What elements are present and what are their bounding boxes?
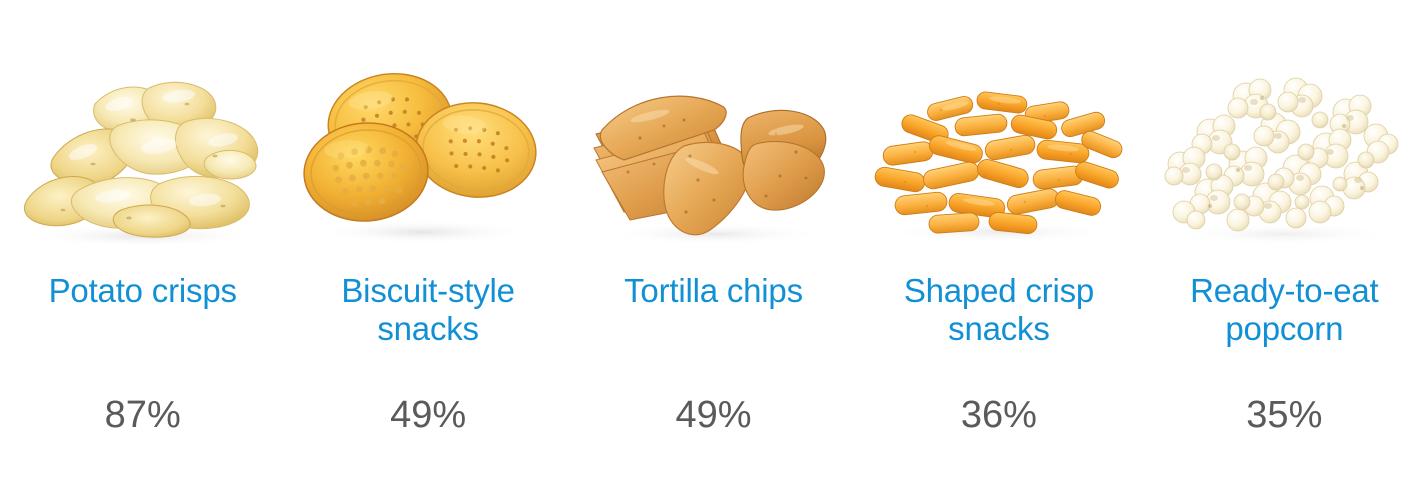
caption-block: Shaped crisp snacks 36% [856,272,1141,484]
biscuit-crackers-photo [294,60,562,250]
category-item-potato-crisps[interactable]: Potato crisps 87% [0,0,285,484]
category-value: 36% [856,394,1141,436]
category-label: Shaped crisp snacks [856,272,1141,348]
caption-block: Potato crisps 87% [0,272,285,484]
category-value: 87% [0,394,285,436]
category-item-shaped-crisp-snacks[interactable]: Shaped crisp snacks 36% [856,0,1141,484]
category-value: 49% [571,394,856,436]
cheese-puffs-photo [865,60,1133,250]
category-item-tortilla-chips[interactable]: Tortilla chips 49% [571,0,856,484]
image-plate [0,0,285,272]
image-plate [1142,0,1427,272]
category-row: Potato crisps 87% [0,0,1427,484]
category-label: Biscuit-style snacks [285,272,570,348]
category-label: Tortilla chips [571,272,856,310]
tortilla-chips-photo [580,60,848,250]
caption-block: Ready-to-eat popcorn 35% [1142,272,1427,484]
category-value: 35% [1142,394,1427,436]
potato-crisps-photo [9,60,277,250]
snack-category-panel: Potato crisps 87% [0,0,1427,484]
caption-block: Biscuit-style snacks 49% [285,272,570,484]
image-plate [856,0,1141,272]
category-item-biscuit-style-snacks[interactable]: Biscuit-style snacks 49% [285,0,570,484]
image-plate [571,0,856,272]
caption-block: Tortilla chips 49% [571,272,856,484]
category-label: Potato crisps [0,272,285,310]
category-value: 49% [285,394,570,436]
image-plate [285,0,570,272]
category-label: Ready-to-eat popcorn [1142,272,1427,348]
popcorn-photo [1150,60,1418,250]
category-item-ready-to-eat-popcorn[interactable]: Ready-to-eat popcorn 35% [1142,0,1427,484]
